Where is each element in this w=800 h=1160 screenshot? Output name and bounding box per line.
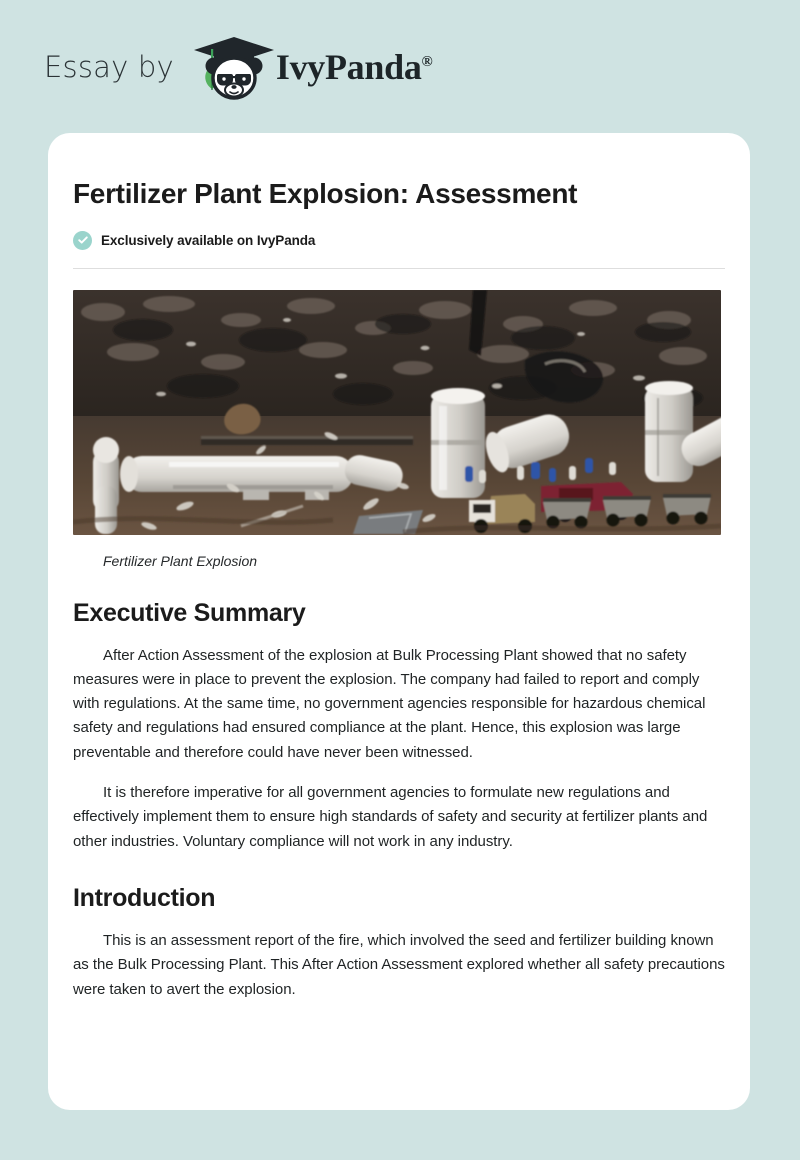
exclusive-availability-badge: Exclusively available on IvyPanda [73, 231, 725, 250]
panda-graduate-logo-icon [190, 33, 278, 101]
explosion-site-photo [73, 290, 721, 535]
paragraph: After Action Assessment of the explosion… [73, 644, 725, 765]
registered-trademark-mark: ® [422, 54, 433, 70]
header-divider [73, 268, 725, 269]
essay-by-label: Essay by [44, 50, 174, 84]
section-heading-executive-summary: Executive Summary [73, 599, 725, 628]
page-title: Fertilizer Plant Explosion: Assessment [73, 177, 725, 211]
paragraph: This is an assessment report of the fire… [73, 929, 725, 1002]
brand-name-label: IvyPanda® [276, 49, 433, 85]
status-badge-label: Exclusively available on IvyPanda [101, 233, 315, 248]
paragraph: It is therefore imperative for all gover… [73, 781, 725, 854]
ivypanda-logo[interactable]: IvyPanda® [190, 33, 433, 101]
brand-header: Essay by [0, 0, 800, 133]
document-card: Fertilizer Plant Explosion: Assessment E… [48, 133, 750, 1110]
article-figure: Fertilizer Plant Explosion [73, 290, 725, 569]
section-heading-introduction: Introduction [73, 884, 725, 913]
check-circle-icon [73, 231, 92, 250]
figure-caption: Fertilizer Plant Explosion [103, 553, 725, 569]
